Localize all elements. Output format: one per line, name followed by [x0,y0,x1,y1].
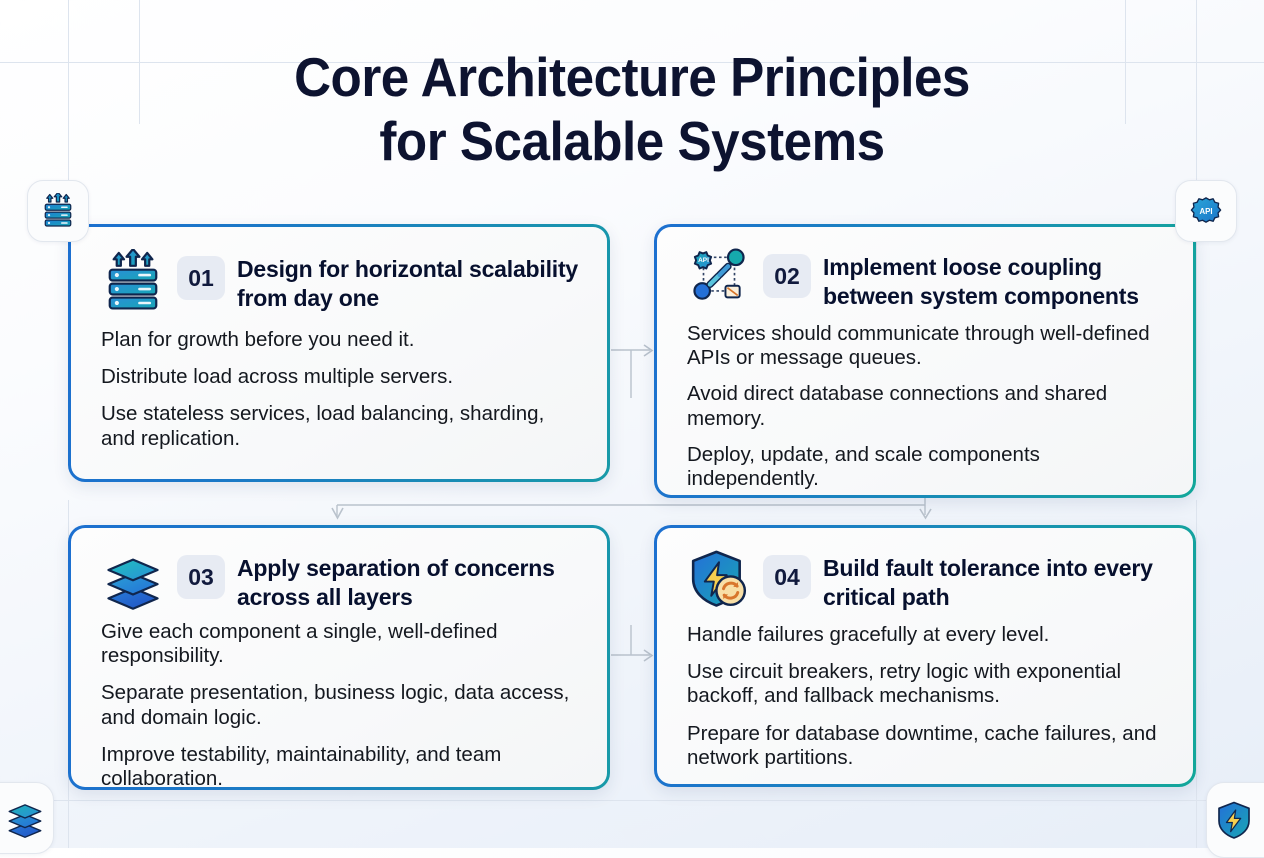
api-gear-badge-icon: API [1188,193,1224,229]
card-bullet-list: Plan for growth before you need it. Dist… [101,328,581,451]
principle-card-4[interactable]: 04 Build fault tolerance into every crit… [654,525,1196,787]
guide-line-horizontal [0,800,1264,801]
card-header: 01 Design for horizontal scalability fro… [101,247,581,312]
list-item: Give each component a single, well-defin… [101,620,583,668]
svg-text:API: API [698,257,709,264]
stacked-layers-icon [4,797,46,839]
card-bullet-list: Services should communicate through well… [687,322,1173,491]
card-number-badge: 02 [763,254,811,298]
list-item: Use stateless services, load balancing, … [101,402,581,450]
corner-chip-top-right: API [1175,180,1237,242]
list-item: Services should communicate through well… [687,322,1173,370]
list-item: Separate presentation, business logic, d… [101,681,583,729]
server-stack-scaling-icon [101,249,165,311]
arrowhead-to-card2 [644,345,652,356]
list-item: Prepare for database downtime, cache fai… [687,722,1173,770]
card-bullet-list: Handle failures gracefully at every leve… [687,623,1173,770]
card-title: Implement loose coupling between system … [823,253,1173,310]
page-title: Core Architecture Principles for Scalabl… [44,46,1220,174]
shield-bolt-retry-icon [687,548,751,610]
card-title: Build fault tolerance into every critica… [823,554,1173,611]
page-title-line-2: for Scalable Systems [44,110,1220,174]
card-header: 04 Build fault tolerance into every crit… [687,546,1173,611]
server-stack-scaling-icon [40,193,76,229]
list-item: Improve testability, maintainability, an… [101,743,583,791]
card-number-badge: 01 [177,256,225,300]
arrowhead-down-card3 [332,508,343,518]
card-header: 03 Apply separation of concerns across a… [101,546,583,611]
principle-card-2[interactable]: API 02 Implement loose coupling between … [654,224,1196,498]
corner-chip-bottom-left [0,782,54,854]
card-number-badge: 03 [177,555,225,599]
principle-card-3[interactable]: 03 Apply separation of concerns across a… [68,525,610,790]
card-bullet-list: Give each component a single, well-defin… [101,620,583,791]
shield-bolt-icon [1214,800,1254,840]
arrowhead-to-card4 [644,650,652,661]
card-title: Apply separation of concerns across all … [237,554,583,611]
list-item: Deploy, update, and scale components ind… [687,443,1173,491]
list-item: Avoid direct database connections and sh… [687,382,1173,430]
list-item: Distribute load across multiple servers. [101,365,581,389]
list-item: Handle failures gracefully at every leve… [687,623,1173,647]
corner-chip-top-left [27,180,89,242]
api-badge-label: API [1199,207,1212,216]
card-number-badge: 04 [763,555,811,599]
arrowhead-down-card4 [920,509,931,518]
card-title: Design for horizontal scalability from d… [237,255,581,312]
list-item: Plan for growth before you need it. [101,328,581,352]
principle-card-1[interactable]: 01 Design for horizontal scalability fro… [68,224,610,482]
page-title-line-1: Core Architecture Principles [44,46,1220,110]
api-chain-link-icon: API [687,247,751,309]
guide-line-vertical [1196,500,1197,848]
list-item: Use circuit breakers, retry logic with e… [687,660,1173,708]
corner-chip-bottom-right [1206,782,1264,858]
card-header: API 02 Implement loose coupling between … [687,245,1173,310]
stacked-layers-icon [101,548,165,610]
